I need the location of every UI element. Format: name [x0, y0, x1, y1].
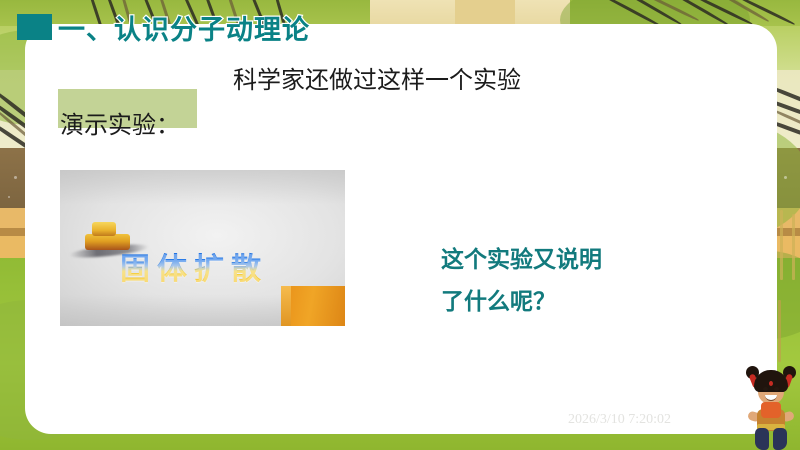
- fence-post: [780, 210, 783, 280]
- fence-post: [792, 214, 795, 280]
- fence-post: [778, 300, 781, 362]
- mascot-leg-right: [773, 428, 787, 450]
- demo-label-text: 演示实验：: [60, 105, 180, 140]
- video-caption-text: 固体扩散: [120, 244, 268, 288]
- experiment-video-thumbnail[interactable]: 固体扩散: [60, 170, 345, 326]
- texture-speck: [784, 176, 787, 179]
- question-text-block: 这个实验又说明 了什么呢？: [441, 238, 602, 322]
- page-title: 一、认识分子动理论: [58, 8, 310, 47]
- orange-block-graphic: [281, 286, 345, 326]
- timestamp-text: 2026/3/10 7:20:02: [568, 412, 671, 428]
- mascot-leg-left: [755, 428, 769, 450]
- slide-canvas: 一、认识分子动理论 科学家还做过这样一个实验 演示实验： 固体扩散 这个实验又说…: [0, 0, 800, 450]
- texture-speck: [14, 176, 17, 179]
- gold-block-top: [92, 222, 116, 236]
- mascot-character: [744, 362, 798, 450]
- heading-bullet-icon: [17, 14, 52, 40]
- texture-speck: [8, 196, 10, 198]
- mascot-forehead-mark: [769, 381, 773, 386]
- question-line-2: 了什么呢？: [441, 280, 602, 322]
- mascot-eye-right: [774, 387, 779, 391]
- question-line-1: 这个实验又说明: [441, 238, 602, 280]
- mascot-eye-left: [763, 387, 768, 391]
- subheading-text: 科学家还做过这样一个实验: [233, 60, 521, 95]
- mascot-scarf: [761, 402, 781, 418]
- background-band-cream-accent: [455, 0, 515, 26]
